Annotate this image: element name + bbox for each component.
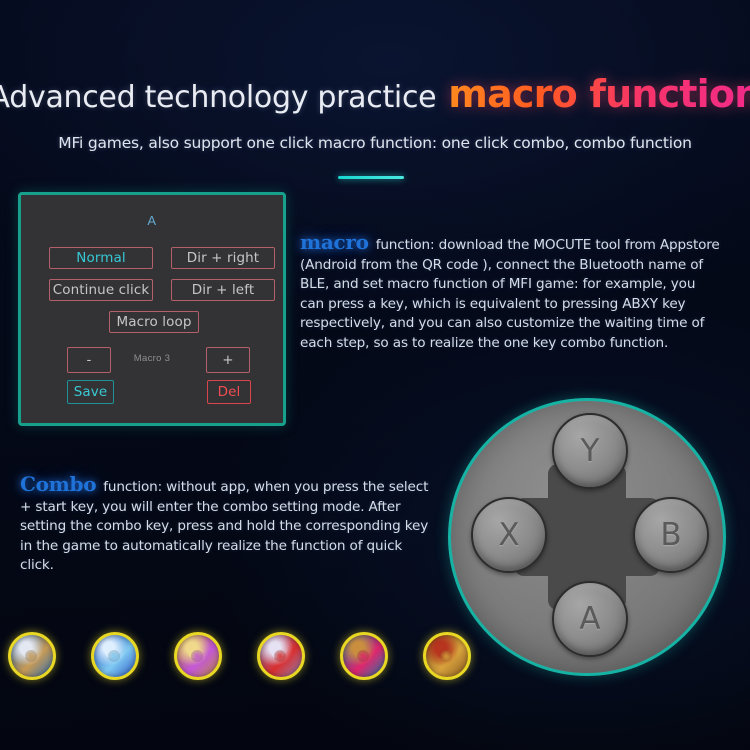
title-plain-text: Advanced technology practice bbox=[0, 78, 436, 118]
combo-description: Combofunction: without app, when you pre… bbox=[20, 475, 440, 576]
panel-key-label: A bbox=[21, 213, 283, 228]
dir-left-button[interactable]: Dir + left bbox=[171, 279, 275, 301]
icon-core bbox=[357, 650, 369, 662]
macro-body-text: function: download the MOCUTE tool from … bbox=[300, 237, 720, 351]
combo-lead-heading: Combo bbox=[20, 472, 96, 496]
icon-core bbox=[274, 650, 286, 662]
icon-core bbox=[440, 650, 452, 662]
icon-core bbox=[191, 650, 203, 662]
save-button[interactable]: Save bbox=[67, 380, 114, 404]
macro-description: macrofunction: download the MOCUTE tool … bbox=[300, 233, 720, 353]
continue-click-button[interactable]: Continue click bbox=[49, 279, 153, 301]
game-icon-row bbox=[8, 632, 508, 688]
game-item-icon-6 bbox=[423, 632, 471, 680]
icon-core bbox=[25, 650, 37, 662]
page-title: Advanced technology practice macro funct… bbox=[0, 74, 750, 118]
page-header: Advanced technology practice macro funct… bbox=[0, 74, 750, 118]
icon-core bbox=[108, 650, 120, 662]
game-item-icon-1 bbox=[8, 632, 56, 680]
macro-loop-button[interactable]: Macro loop bbox=[109, 311, 199, 333]
normal-button[interactable]: Normal bbox=[49, 247, 153, 269]
title-accent-text: macro function bbox=[448, 74, 750, 114]
macro-settings-panel: A Normal Dir + right Continue click Dir … bbox=[18, 192, 286, 426]
macro-lead-heading: macro bbox=[300, 230, 369, 254]
game-item-icon-2 bbox=[91, 632, 139, 680]
dir-right-button[interactable]: Dir + right bbox=[171, 247, 275, 269]
gamepad-button-x[interactable]: X bbox=[471, 497, 547, 573]
section-divider bbox=[338, 176, 404, 179]
gamepad-button-b[interactable]: B bbox=[633, 497, 709, 573]
page-subtitle: MFi games, also support one click macro … bbox=[0, 134, 750, 152]
gamepad-button-y[interactable]: Y bbox=[552, 413, 628, 489]
increment-button[interactable]: + bbox=[206, 347, 250, 373]
game-item-icon-5 bbox=[340, 632, 388, 680]
page-background: Advanced technology practice macro funct… bbox=[0, 0, 750, 750]
game-item-icon-3 bbox=[174, 632, 222, 680]
game-item-icon-4 bbox=[257, 632, 305, 680]
delete-button[interactable]: Del bbox=[207, 380, 251, 404]
gamepad-button-a[interactable]: A bbox=[552, 581, 628, 657]
